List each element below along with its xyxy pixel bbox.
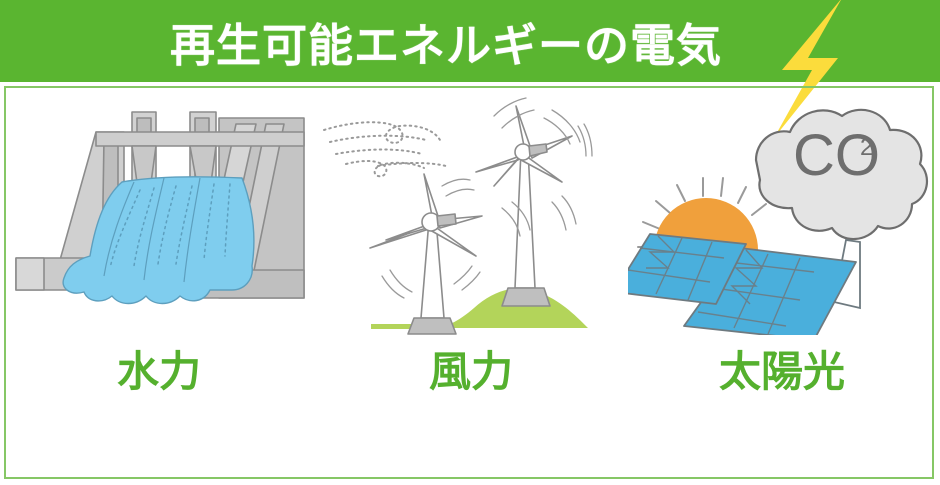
hydro-dam-icon xyxy=(4,90,314,335)
co2-superscript: 2 xyxy=(860,134,873,161)
panel-caption-hydro: 水力 xyxy=(4,348,314,396)
panel-caption-solar: 太陽光 xyxy=(628,348,936,396)
wind-turbine-icon xyxy=(316,90,626,335)
renewable-energy-infographic: 再生可能エネルギーの電気 xyxy=(0,0,940,485)
panel-solar: CO 2 xyxy=(628,90,936,400)
panel-hydro: 水力 xyxy=(4,90,314,400)
panel-caption-wind: 風力 xyxy=(316,348,626,396)
panel-wind: 風力 xyxy=(316,90,626,400)
solar-panel-icon: CO 2 xyxy=(628,90,936,335)
